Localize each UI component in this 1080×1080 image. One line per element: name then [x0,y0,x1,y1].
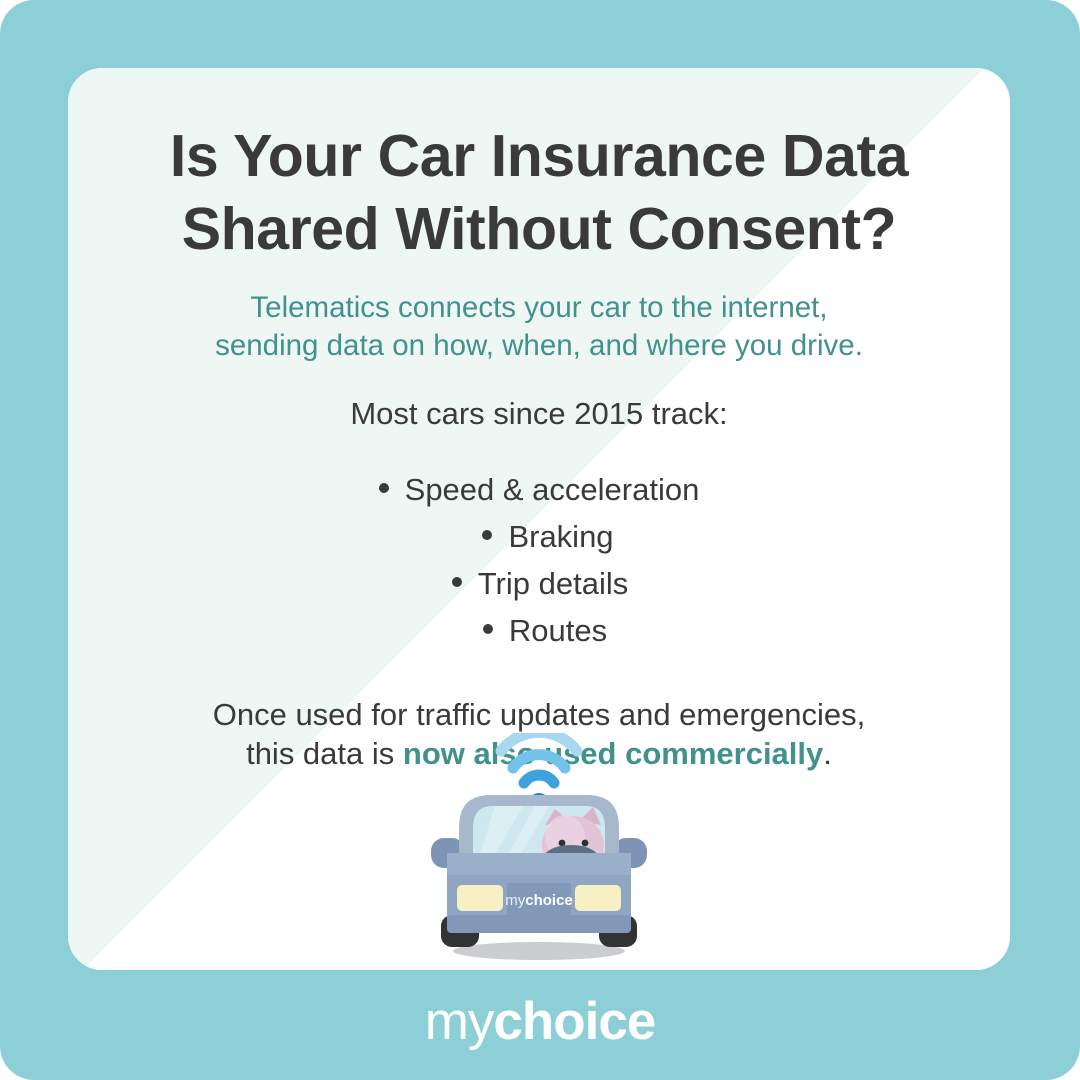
bullet-dot-icon [483,624,493,634]
infographic-canvas: Is Your Car Insurance Data Shared Withou… [0,0,1080,1080]
page-title: Is Your Car Insurance Data Shared Withou… [99,68,979,265]
content-card: Is Your Car Insurance Data Shared Withou… [68,68,1010,970]
headlight-left [457,885,503,911]
bullet-dot-icon [482,530,492,540]
list-item: Braking [68,513,1010,560]
subtitle-line-2: sending data on how, when, and where you… [215,329,863,362]
lead-text: Most cars since 2015 track: [350,364,727,432]
car-bumper [447,915,631,933]
subtitle: Telematics connects your car to the inte… [109,265,969,364]
list-item: Routes [68,607,1010,654]
list-item: Trip details [68,560,1010,607]
logo-choice: choice [493,992,655,1051]
logo-my: my [425,992,494,1051]
bullet-dot-icon [379,483,389,493]
car-illustration: mychoice [419,733,659,965]
title-line-1: Is Your Car Insurance Data [170,123,908,189]
list-item-label: Routes [509,613,607,648]
plate-light: my [505,892,525,909]
list-item: Speed & acceleration [68,466,1010,513]
license-plate-text: mychoice [505,892,573,909]
tracked-data-list: Speed & acceleration Braking Trip detail… [68,432,1010,654]
bullet-dot-icon [452,577,462,587]
list-item-label: Braking [508,519,613,554]
closing-line-2-prefix: this data is [246,736,403,771]
car-shadow [453,942,625,960]
subtitle-line-1: Telematics connects your car to the inte… [250,291,827,324]
closing-line-1: Once used for traffic updates and emerge… [213,697,866,732]
headlight-right [575,885,621,911]
plate-bold: choice [525,892,573,909]
brand-logo: mychoice [0,995,1080,1048]
pig-eye-right [582,840,589,847]
list-item-label: Speed & acceleration [405,472,700,507]
title-line-2: Shared Without Consent? [182,196,897,262]
list-item-label: Trip details [478,566,628,601]
closing-line-2-suffix: . [823,736,832,771]
